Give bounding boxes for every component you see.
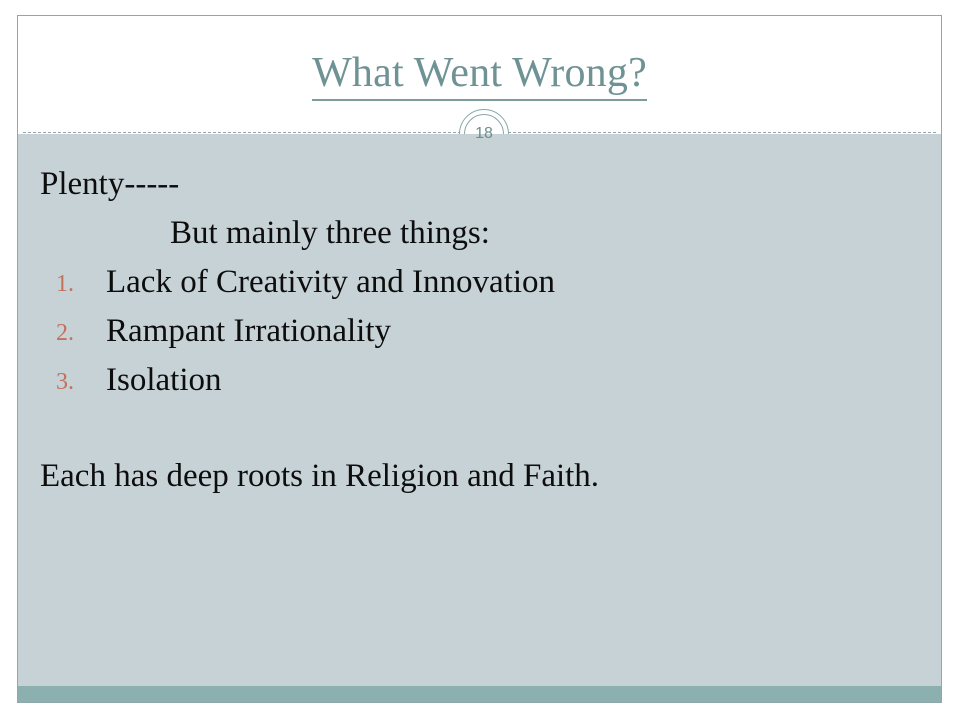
slide-number-text: 18 <box>475 126 493 142</box>
list-item: 2. Rampant Irrationality <box>40 307 921 356</box>
list-item-label: Lack of Creativity and Innovation <box>106 264 555 300</box>
list-item: 3. Isolation <box>40 356 921 405</box>
intro-line: Plenty----- <box>40 160 921 209</box>
closing-line: Each has deep roots in Religion and Fait… <box>40 452 921 501</box>
list-item-marker: 2. <box>56 307 96 359</box>
page-title-text: What Went Wrong? <box>312 50 647 101</box>
slide-frame: What Went Wrong? 18 Plenty----- But main… <box>17 15 942 703</box>
subheading-line: But mainly three things: <box>40 209 921 258</box>
list-item-marker: 3. <box>56 356 96 408</box>
paragraph-spacer <box>40 405 921 452</box>
footer-bar <box>18 686 941 703</box>
list-item-label: Isolation <box>106 362 221 398</box>
body-content: Plenty----- But mainly three things: 1. … <box>40 160 921 501</box>
page-title: What Went Wrong? <box>18 49 941 97</box>
list-item: 1. Lack of Creativity and Innovation <box>40 258 921 307</box>
slide-body: Plenty----- But mainly three things: 1. … <box>18 134 941 702</box>
numbered-list: 1. Lack of Creativity and Innovation 2. … <box>40 258 921 405</box>
list-item-marker: 1. <box>56 258 96 310</box>
list-item-label: Rampant Irrationality <box>106 313 391 349</box>
